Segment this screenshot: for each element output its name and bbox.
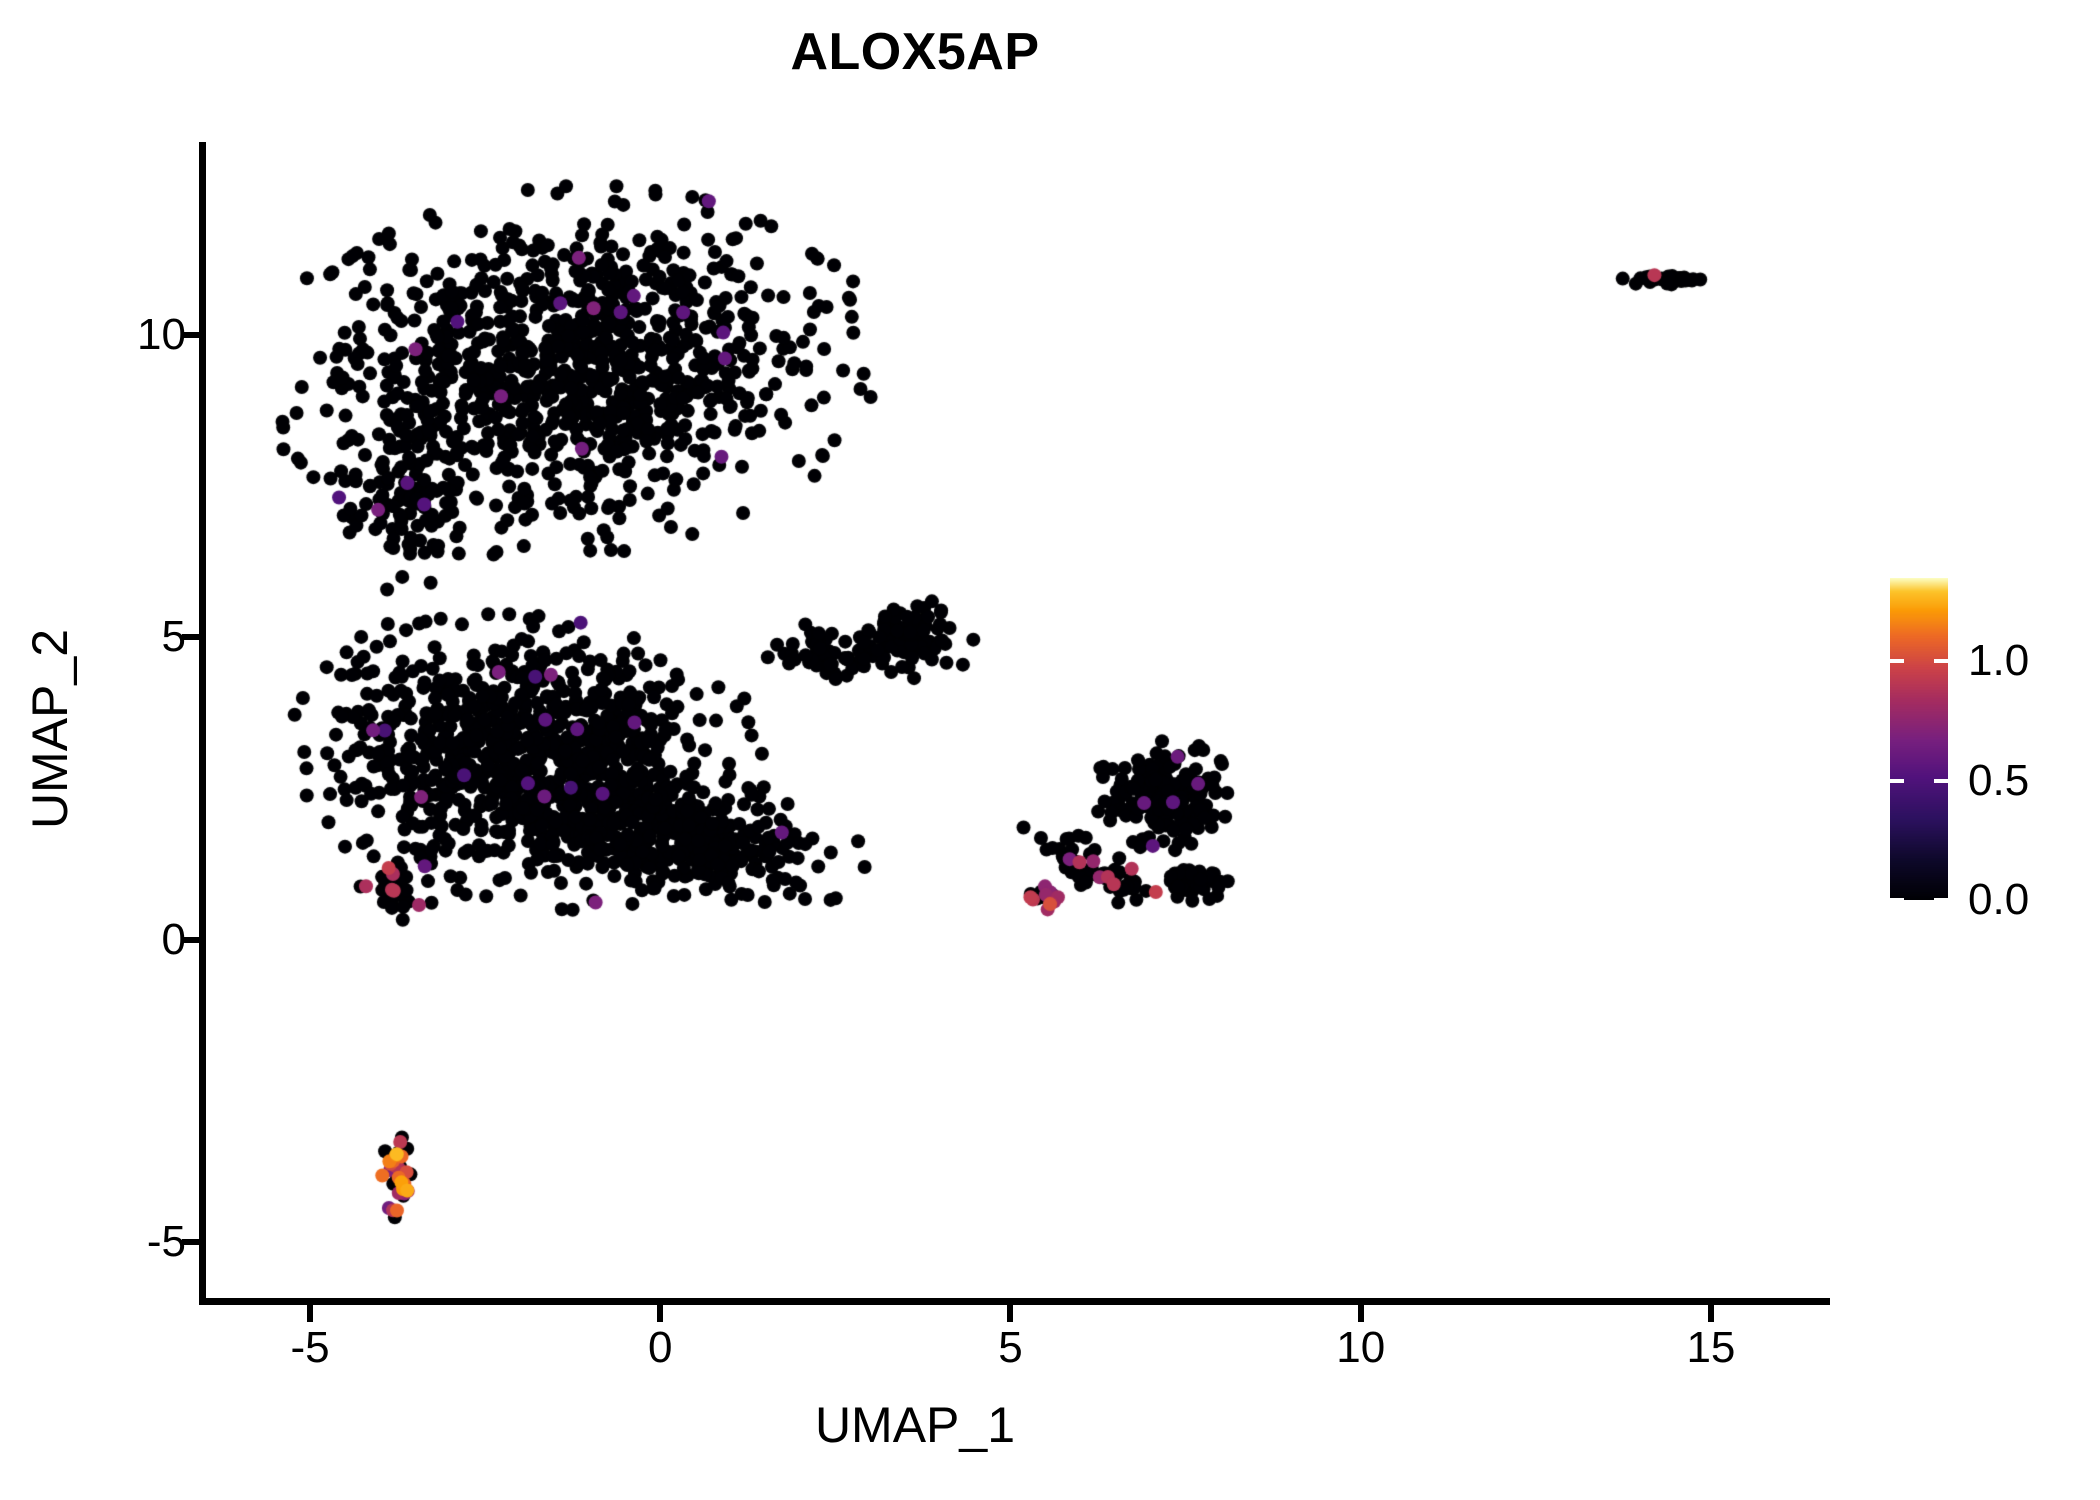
y-tick-label: 10 (137, 313, 186, 357)
colorbar-legend[interactable]: 1.00.50.0 (1890, 578, 2080, 908)
x-tick-mark (1708, 1305, 1714, 1322)
x-tick-label: 10 (1336, 1326, 1385, 1370)
x-tick-mark (1358, 1305, 1364, 1322)
x-tick-label: 15 (1686, 1326, 1735, 1370)
feature-plot-figure: ALOX5AP -50510 -5051015 UMAP_1 UMAP_2 1.… (0, 0, 2100, 1500)
x-tick-label: -5 (291, 1326, 330, 1370)
x-tick-label: 5 (998, 1326, 1022, 1370)
x-tick-mark (1007, 1305, 1013, 1322)
y-tick-label: 0 (162, 918, 186, 962)
page-title: ALOX5AP (0, 22, 1830, 82)
colorbar-tick-label: 0.0 (1968, 878, 2029, 922)
y-tick-label: 5 (162, 615, 186, 659)
scatter-plot-panel[interactable] (205, 142, 1830, 1302)
colorbar-tick-label: 1.0 (1968, 639, 2029, 683)
y-tick-label: -5 (147, 1220, 186, 1264)
x-tick-label: 0 (648, 1326, 672, 1370)
y-axis-line (199, 142, 206, 1305)
x-tick-mark (307, 1305, 313, 1322)
y-axis-title: UMAP_2 (21, 449, 79, 1009)
colorbar-gradient (1890, 578, 1948, 900)
colorbar-tick-label: 0.5 (1968, 759, 2029, 803)
x-axis-line (199, 1298, 1830, 1305)
x-axis-title: UMAP_1 (0, 1396, 1830, 1454)
x-tick-mark (657, 1305, 663, 1322)
umap-scatter-canvas[interactable] (205, 142, 1830, 1302)
